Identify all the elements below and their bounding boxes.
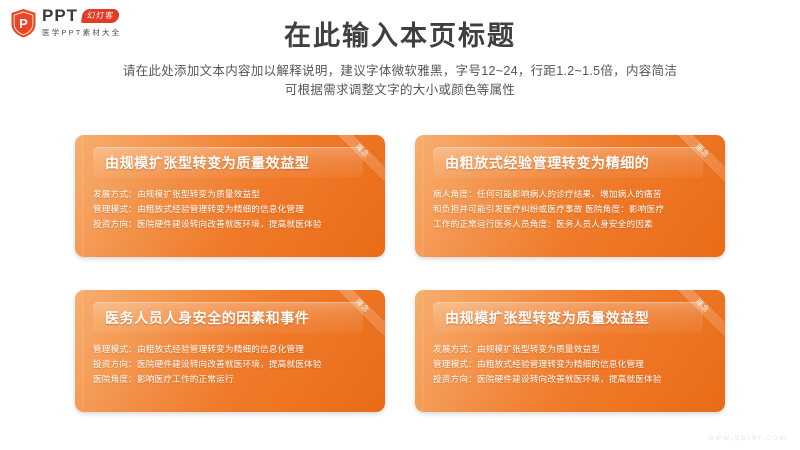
- ribbon-label: 理念: [326, 290, 385, 342]
- content-card[interactable]: 理念 由规模扩张型转变为质量效益型 发展方式：由规模扩张型转变为质量效益型 管理…: [75, 135, 385, 257]
- card-line: 投资方向：医院硬件建设转向改善就医环境，提高就医体验: [433, 372, 711, 387]
- card-line: 管理模式：由粗放式经验管理转变为精细的信息化管理: [93, 202, 371, 217]
- subtitle-line-1: 请在此处添加文本内容加以解释说明，建议字体微软雅黑，字号12~24，行距1.2~…: [0, 62, 800, 81]
- card-seam: [422, 135, 423, 257]
- content-card[interactable]: 理念 医务人员人身安全的因素和事件 管理模式：由粗放式经验管理转变为精细的信息化…: [75, 290, 385, 412]
- content-card[interactable]: 理念 由粗放式经验管理转变为精细的 病人角度：任何可能影响病人的诊疗结果、增加病…: [415, 135, 725, 257]
- card-line: 医院角度：影响医疗工作的正常运行: [93, 372, 371, 387]
- corner-ribbon: 理念: [663, 135, 725, 197]
- page-subtitle: 请在此处添加文本内容加以解释说明，建议字体微软雅黑，字号12~24，行距1.2~…: [0, 62, 800, 101]
- corner-ribbon: 理念: [663, 290, 725, 352]
- page-title: 在此输入本页标题: [0, 14, 800, 53]
- corner-ribbon: 理念: [323, 135, 385, 197]
- card-heading-text: 由规模扩张型转变为质量效益型: [105, 153, 309, 173]
- card-heading-text: 由粗放式经验管理转变为精细的: [445, 153, 649, 173]
- ribbon-label: 理念: [326, 135, 385, 187]
- card-line: 管理模式：由粗放式经验管理转变为精细的信息化管理: [433, 357, 711, 372]
- card-line: 投资方向：医院硬件建设转向改善就医环境，提高就医体验: [93, 217, 371, 232]
- card-seam: [82, 135, 83, 257]
- ribbon-label: 理念: [666, 135, 725, 187]
- ribbon-label: 理念: [666, 290, 725, 342]
- card-grid: 理念 由规模扩张型转变为质量效益型 发展方式：由规模扩张型转变为质量效益型 管理…: [75, 135, 725, 415]
- card-line: 和负担并可能引发医疗纠纷或医疗事故 医院角度：影响医疗: [433, 202, 711, 217]
- footer-watermark: www.ppter.com: [708, 433, 788, 442]
- card-heading-text: 医务人员人身安全的因素和事件: [105, 308, 309, 328]
- card-line: 投资方向：医院硬件建设转向改善就医环境，提高就医体验: [93, 357, 371, 372]
- card-seam: [422, 290, 423, 412]
- card-heading-text: 由规模扩张型转变为质量效益型: [445, 308, 649, 328]
- subtitle-line-2: 可根据需求调整文字的大小或颜色等属性: [0, 81, 800, 100]
- content-card[interactable]: 理念 由规模扩张型转变为质量效益型 发展方式：由规模扩张型转变为质量效益型 管理…: [415, 290, 725, 412]
- card-seam: [82, 290, 83, 412]
- card-line: 工作的正常运行医务人员角度：医务人员人身安全的因素: [433, 217, 711, 232]
- corner-ribbon: 理念: [323, 290, 385, 352]
